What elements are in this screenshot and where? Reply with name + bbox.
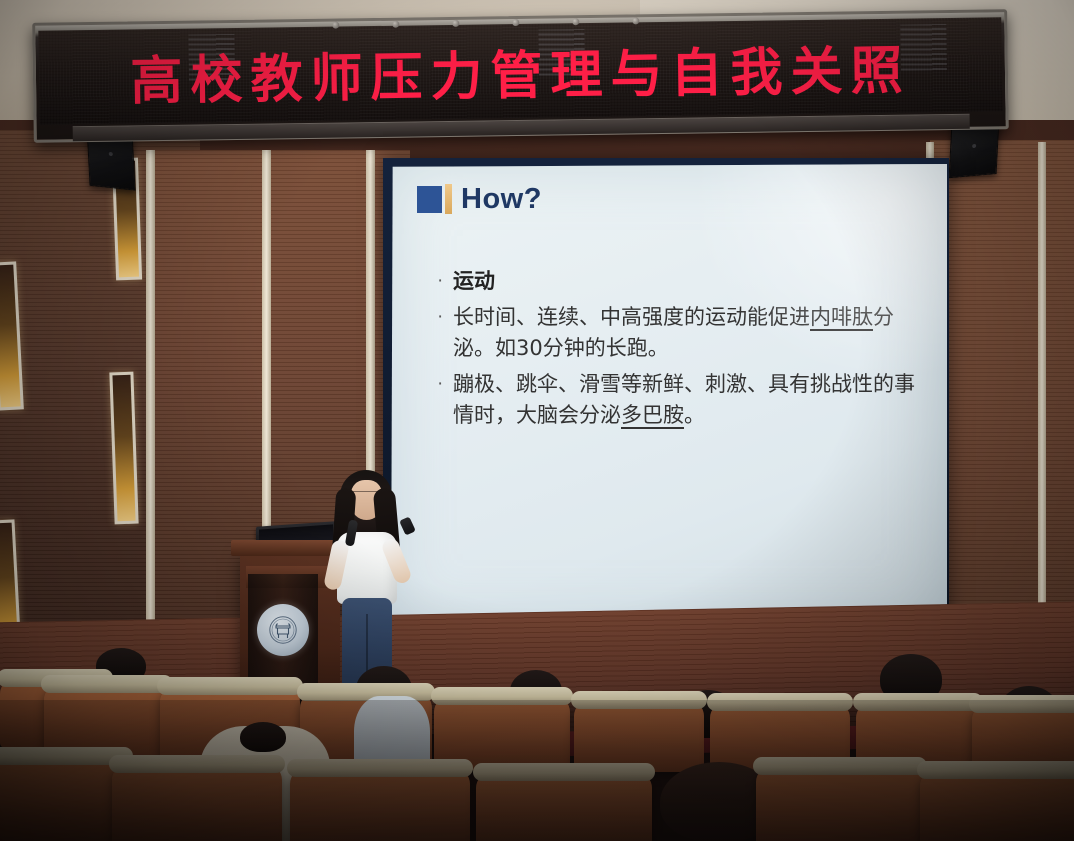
led-bolt xyxy=(392,21,399,28)
auditorium-photo: 高校教师压力管理与自我关照 How? · 运动 · xyxy=(0,0,1074,841)
led-banner: 高校教师压力管理与自我关照 xyxy=(32,9,1009,143)
bullet-text: 运动 xyxy=(453,266,495,297)
slide-bullet-list: · 运动 · 长时间、连续、中高强度的运动能促进内啡肽分泌。如30分钟的长跑。 … xyxy=(437,266,925,431)
bullet-underlined-term: 多巴胺 xyxy=(621,403,684,429)
slide-bullet-item: · 长时间、连续、中高强度的运动能促进内啡肽分泌。如30分钟的长跑。 xyxy=(437,302,925,364)
bullet-text: 蹦极、跳伞、滑雪等新鲜、刺激、具有挑战性的事情时，大脑会分泌多巴胺。 xyxy=(453,369,923,431)
seat-top-cap xyxy=(917,761,1074,779)
audience-seating xyxy=(0,648,1074,841)
wall-seam xyxy=(262,150,271,580)
seat-top-cap xyxy=(41,675,173,693)
seat-top-cap xyxy=(707,693,853,711)
audience-seat xyxy=(290,768,470,841)
projection-screen: How? · 运动 · 长时间、连续、中高强度的运动能促进内啡肽分泌。如30分钟… xyxy=(391,164,947,626)
seat-top-cap xyxy=(969,695,1074,713)
audience-seat xyxy=(112,764,282,841)
seat-top-cap xyxy=(287,759,473,777)
seat-top-cap xyxy=(571,691,707,709)
slide-accent-bar-icon xyxy=(445,184,452,214)
led-banner-screen: 高校教师压力管理与自我关照 xyxy=(38,17,1002,124)
seat-top-cap xyxy=(109,755,285,773)
led-banner-text: 高校教师压力管理与自我关照 xyxy=(38,27,1002,115)
bullet-marker-icon: · xyxy=(437,266,453,296)
led-bolt xyxy=(332,22,339,29)
seat-top-cap xyxy=(431,687,573,705)
bullet-marker-icon: · xyxy=(437,369,453,399)
slide-title: How? xyxy=(461,185,542,214)
seat-top-cap xyxy=(157,677,303,695)
slide-bullet-item: · 运动 xyxy=(437,266,925,297)
bullet-text: 长时间、连续、中高强度的运动能促进内啡肽分泌。如30分钟的长跑。 xyxy=(453,302,923,364)
bullet-marker-icon: · xyxy=(437,302,453,332)
seat-top-cap xyxy=(753,757,927,775)
seat-top-cap xyxy=(473,763,655,781)
audience-seat xyxy=(476,772,652,841)
seat-top-cap xyxy=(853,693,983,711)
bullet-underlined-term: 内啡肽 xyxy=(810,305,873,331)
slide-bullet-item: · 蹦极、跳伞、滑雪等新鲜、刺激、具有挑战性的事情时，大脑会分泌多巴胺。 xyxy=(437,369,925,431)
wall-seam xyxy=(1038,142,1046,662)
slide-accent-square-icon xyxy=(417,186,442,213)
audience-seat xyxy=(756,766,924,841)
audience-seat xyxy=(920,770,1074,841)
bullet-text-part: 长时间、连续、中高强度的运动能促进 xyxy=(453,305,810,329)
presentation-clicker-icon xyxy=(399,516,416,535)
led-bolt xyxy=(452,20,459,27)
bullet-text-part: 。 xyxy=(684,403,705,427)
led-bolt xyxy=(512,19,519,26)
led-bolt xyxy=(632,17,639,24)
wall-seam xyxy=(146,150,155,650)
presentation-slide: How? · 运动 · 长时间、连续、中高强度的运动能促进内啡肽分泌。如30分钟… xyxy=(391,164,947,626)
slide-title-row: How? xyxy=(417,184,925,214)
led-bolt xyxy=(572,18,579,25)
audience-head xyxy=(240,722,286,752)
audience-seat xyxy=(574,700,704,772)
